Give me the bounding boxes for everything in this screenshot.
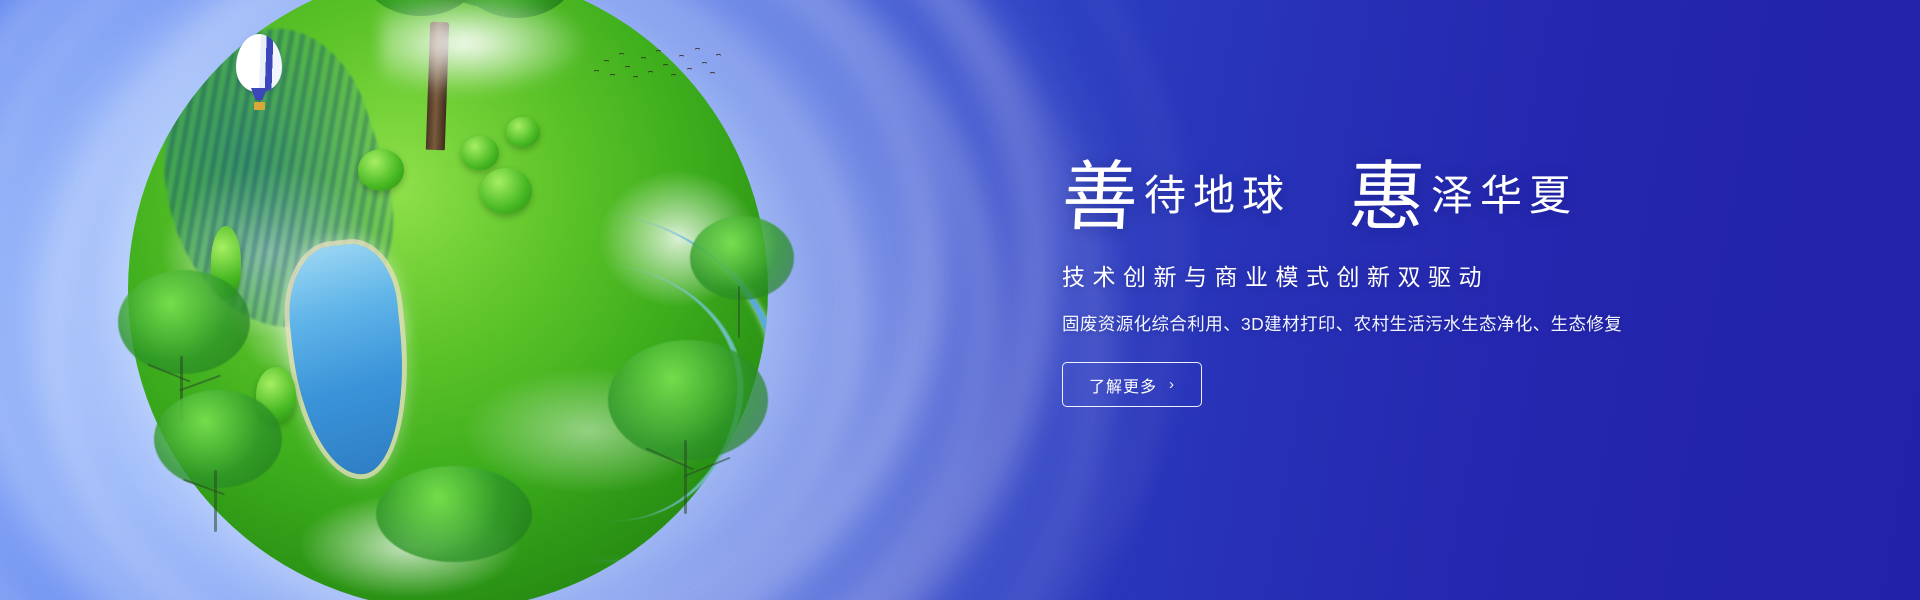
bird-icon [625,66,630,69]
bird-icon [648,71,653,74]
headline-group-2: 惠 泽华夏 [1349,162,1578,232]
bird-icon [695,48,700,51]
hero-subtitle: 技术创新与商业模式创新双驱动 [1062,258,1762,292]
lake-icon [283,240,415,481]
bird-icon [604,60,609,63]
tree-canopy-icon [690,216,794,300]
tree-mist [380,0,590,96]
bird-icon [633,76,638,79]
bird-icon [663,64,668,67]
bird-icon [710,72,715,75]
hot-air-balloon-icon [236,34,282,122]
hero-banner: 善 待地球 惠 泽华夏 技术创新与商业模式创新双驱动 固废资源化综合利用、3D建… [0,0,1920,600]
hero-headline: 善 待地球 惠 泽华夏 [1062,150,1762,232]
bird-icon [679,55,684,58]
balloon-envelope [236,34,282,92]
balloon-basket [254,102,265,110]
bird-icon [656,50,661,53]
bird-icon [619,53,624,56]
rim-tree [148,390,298,560]
tree-branch [214,470,217,532]
tree-canopy-icon [118,270,250,374]
bird-flock-icon [592,44,722,90]
headline-group-1: 善 待地球 [1062,162,1291,232]
bird-icon [594,70,599,73]
bird-icon [671,74,676,77]
tree-canopy-icon [376,466,532,562]
hero-description: 固废资源化综合利用、3D建材打印、农村生活污水生态净化、生态修复 [1062,311,1762,336]
headline-lead-char-2: 惠 [1347,162,1427,232]
bird-icon [716,54,721,57]
rim-tree [684,216,804,356]
bird-icon [702,62,707,65]
tree-canopy-icon [608,340,768,460]
headline-rest-2: 泽华夏 [1431,164,1578,232]
tree-branch [738,286,740,338]
rim-tree [598,340,778,540]
tree-branch [179,375,221,392]
rim-tree [360,458,550,600]
bird-icon [610,74,615,77]
learn-more-button[interactable]: 了解更多 › [1062,362,1202,407]
bird-icon [687,68,692,71]
chevron-right-icon: › [1169,376,1175,393]
headline-rest-1: 待地球 [1144,164,1291,232]
headline-lead-char-1: 善 [1060,162,1140,232]
tree-canopy-icon [154,390,282,488]
bird-icon [641,57,646,60]
learn-more-label: 了解更多 [1089,373,1157,397]
hero-content: 善 待地球 惠 泽华夏 技术创新与商业模式创新双驱动 固废资源化综合利用、3D建… [1062,150,1762,407]
tree-on-planet [300,0,600,190]
